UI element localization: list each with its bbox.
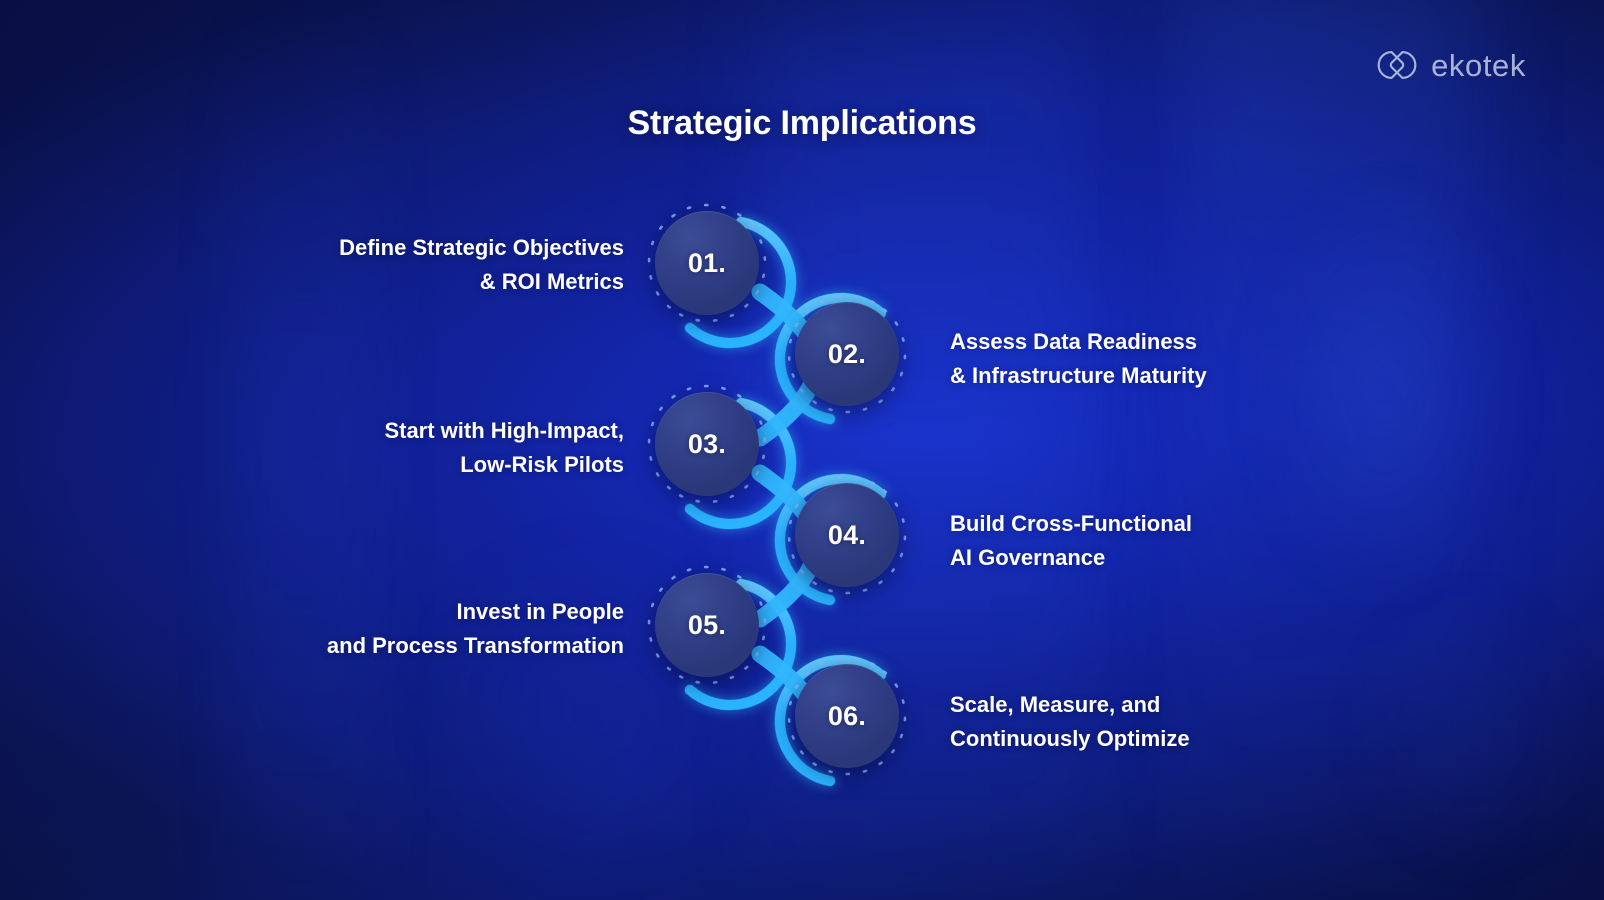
step-node-2[interactable]: 02. (795, 302, 899, 406)
step-label-6-line2: Continuously Optimize (950, 722, 1190, 756)
step-node-1[interactable]: 01. (655, 211, 759, 315)
step-label-4: Build Cross-Functional AI Governance (950, 507, 1192, 575)
step-label-4-line1: Build Cross-Functional (950, 507, 1192, 541)
step-label-5: Invest in People and Process Transformat… (327, 595, 624, 663)
step-label-3-line1: Start with High-Impact, (384, 414, 624, 448)
step-number-2: 02. (828, 341, 866, 368)
step-node-3[interactable]: 03. (655, 392, 759, 496)
step-circle-4: 04. (795, 483, 899, 587)
step-node-5[interactable]: 05. (655, 573, 759, 677)
step-label-1-line1: Define Strategic Objectives (339, 231, 624, 265)
step-label-2-line2: & Infrastructure Maturity (950, 359, 1207, 393)
step-label-5-line2: and Process Transformation (327, 629, 624, 663)
step-label-2-line1: Assess Data Readiness (950, 325, 1207, 359)
step-circle-5: 05. (655, 573, 759, 677)
step-circle-3: 03. (655, 392, 759, 496)
step-circle-6: 06. (795, 664, 899, 768)
slide-canvas: ekotek Strategic Implications (0, 0, 1604, 900)
step-number-6: 06. (828, 703, 866, 730)
step-number-4: 04. (828, 522, 866, 549)
step-label-4-line2: AI Governance (950, 541, 1192, 575)
step-node-6[interactable]: 06. (795, 664, 899, 768)
step-node-4[interactable]: 04. (795, 483, 899, 587)
process-diagram: 01. 02. 03. 04. (0, 0, 1604, 900)
step-label-6-line1: Scale, Measure, and (950, 688, 1190, 722)
step-label-2: Assess Data Readiness & Infrastructure M… (950, 325, 1207, 393)
step-label-1: Define Strategic Objectives & ROI Metric… (339, 231, 624, 299)
step-circle-2: 02. (795, 302, 899, 406)
step-label-3: Start with High-Impact, Low-Risk Pilots (384, 414, 624, 482)
step-number-3: 03. (688, 431, 726, 458)
step-label-3-line2: Low-Risk Pilots (384, 448, 624, 482)
step-label-5-line1: Invest in People (327, 595, 624, 629)
step-number-5: 05. (688, 612, 726, 639)
step-label-6: Scale, Measure, and Continuously Optimiz… (950, 688, 1190, 756)
step-number-1: 01. (688, 250, 726, 277)
step-circle-1: 01. (655, 211, 759, 315)
step-label-1-line2: & ROI Metrics (339, 265, 624, 299)
